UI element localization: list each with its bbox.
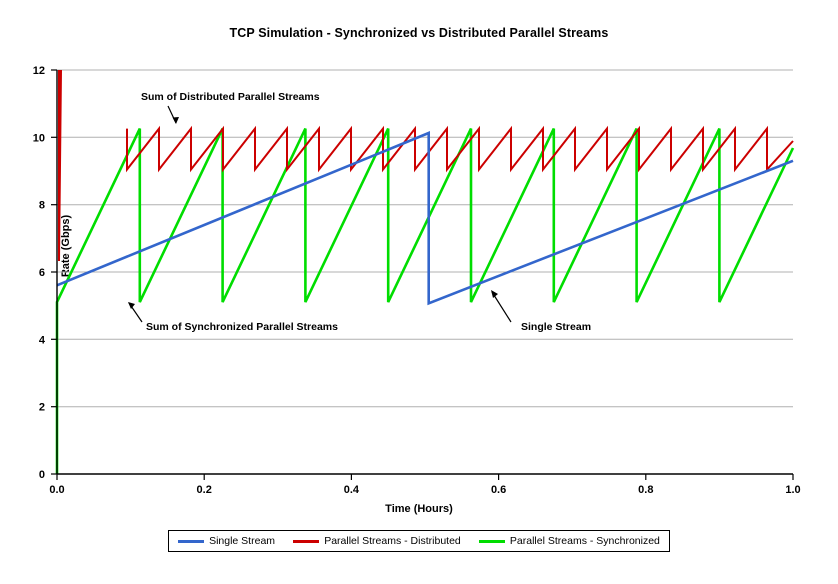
y-tick-6: 6 — [39, 267, 45, 279]
axes — [51, 70, 793, 480]
plot-area: 0 2 4 6 8 10 12 0.0 0.2 0.4 0.6 0.8 1.0 … — [0, 0, 838, 584]
chart-legend: Single Stream Parallel Streams - Distrib… — [168, 530, 670, 552]
annotation-single-stream: Single Stream — [491, 290, 591, 333]
y-tick-8: 8 — [39, 200, 45, 212]
annotation-distributed-text: Sum of Distributed Parallel Streams — [141, 91, 320, 103]
x-tick-labels: 0.0 0.2 0.4 0.6 0.8 1.0 — [49, 484, 800, 496]
legend-label-parallel-synchronized: Parallel Streams - Synchronized — [510, 535, 660, 547]
legend-item-parallel-synchronized[interactable]: Parallel Streams - Synchronized — [479, 535, 660, 547]
x-tick-4: 0.8 — [638, 484, 653, 496]
x-tick-3: 0.6 — [491, 484, 506, 496]
legend-swatch-parallel-distributed — [293, 540, 319, 543]
legend-label-single-stream: Single Stream — [209, 535, 275, 547]
x-tick-2: 0.4 — [344, 484, 360, 496]
y-tick-0: 0 — [39, 469, 45, 481]
legend-item-single-stream[interactable]: Single Stream — [178, 535, 275, 547]
legend-label-parallel-distributed: Parallel Streams - Distributed — [324, 535, 461, 547]
gridlines — [57, 70, 793, 407]
annotation-distributed: Sum of Distributed Parallel Streams — [141, 91, 320, 124]
x-tick-5: 1.0 — [785, 484, 800, 496]
y-tick-4: 4 — [39, 334, 46, 346]
y-tick-2: 2 — [39, 402, 45, 414]
series-parallel-synchronized — [57, 129, 793, 474]
annotation-synchronized: Sum of Synchronized Parallel Streams — [128, 302, 338, 333]
annotation-synchronized-text: Sum of Synchronized Parallel Streams — [146, 321, 338, 333]
legend-swatch-single-stream — [178, 540, 204, 543]
y-tick-10: 10 — [33, 132, 45, 144]
x-tick-0: 0.0 — [49, 484, 64, 496]
y-tick-12: 12 — [33, 65, 45, 77]
x-tick-1: 0.2 — [197, 484, 212, 496]
legend-swatch-parallel-synchronized — [479, 540, 505, 543]
x-axis-label: Time (Hours) — [0, 503, 838, 515]
annotation-single-stream-text: Single Stream — [521, 321, 591, 333]
chart-container: TCP Simulation - Synchronized vs Distrib… — [0, 0, 838, 584]
legend-item-parallel-distributed[interactable]: Parallel Streams - Distributed — [293, 535, 461, 547]
y-tick-labels: 0 2 4 6 8 10 12 — [33, 65, 46, 481]
